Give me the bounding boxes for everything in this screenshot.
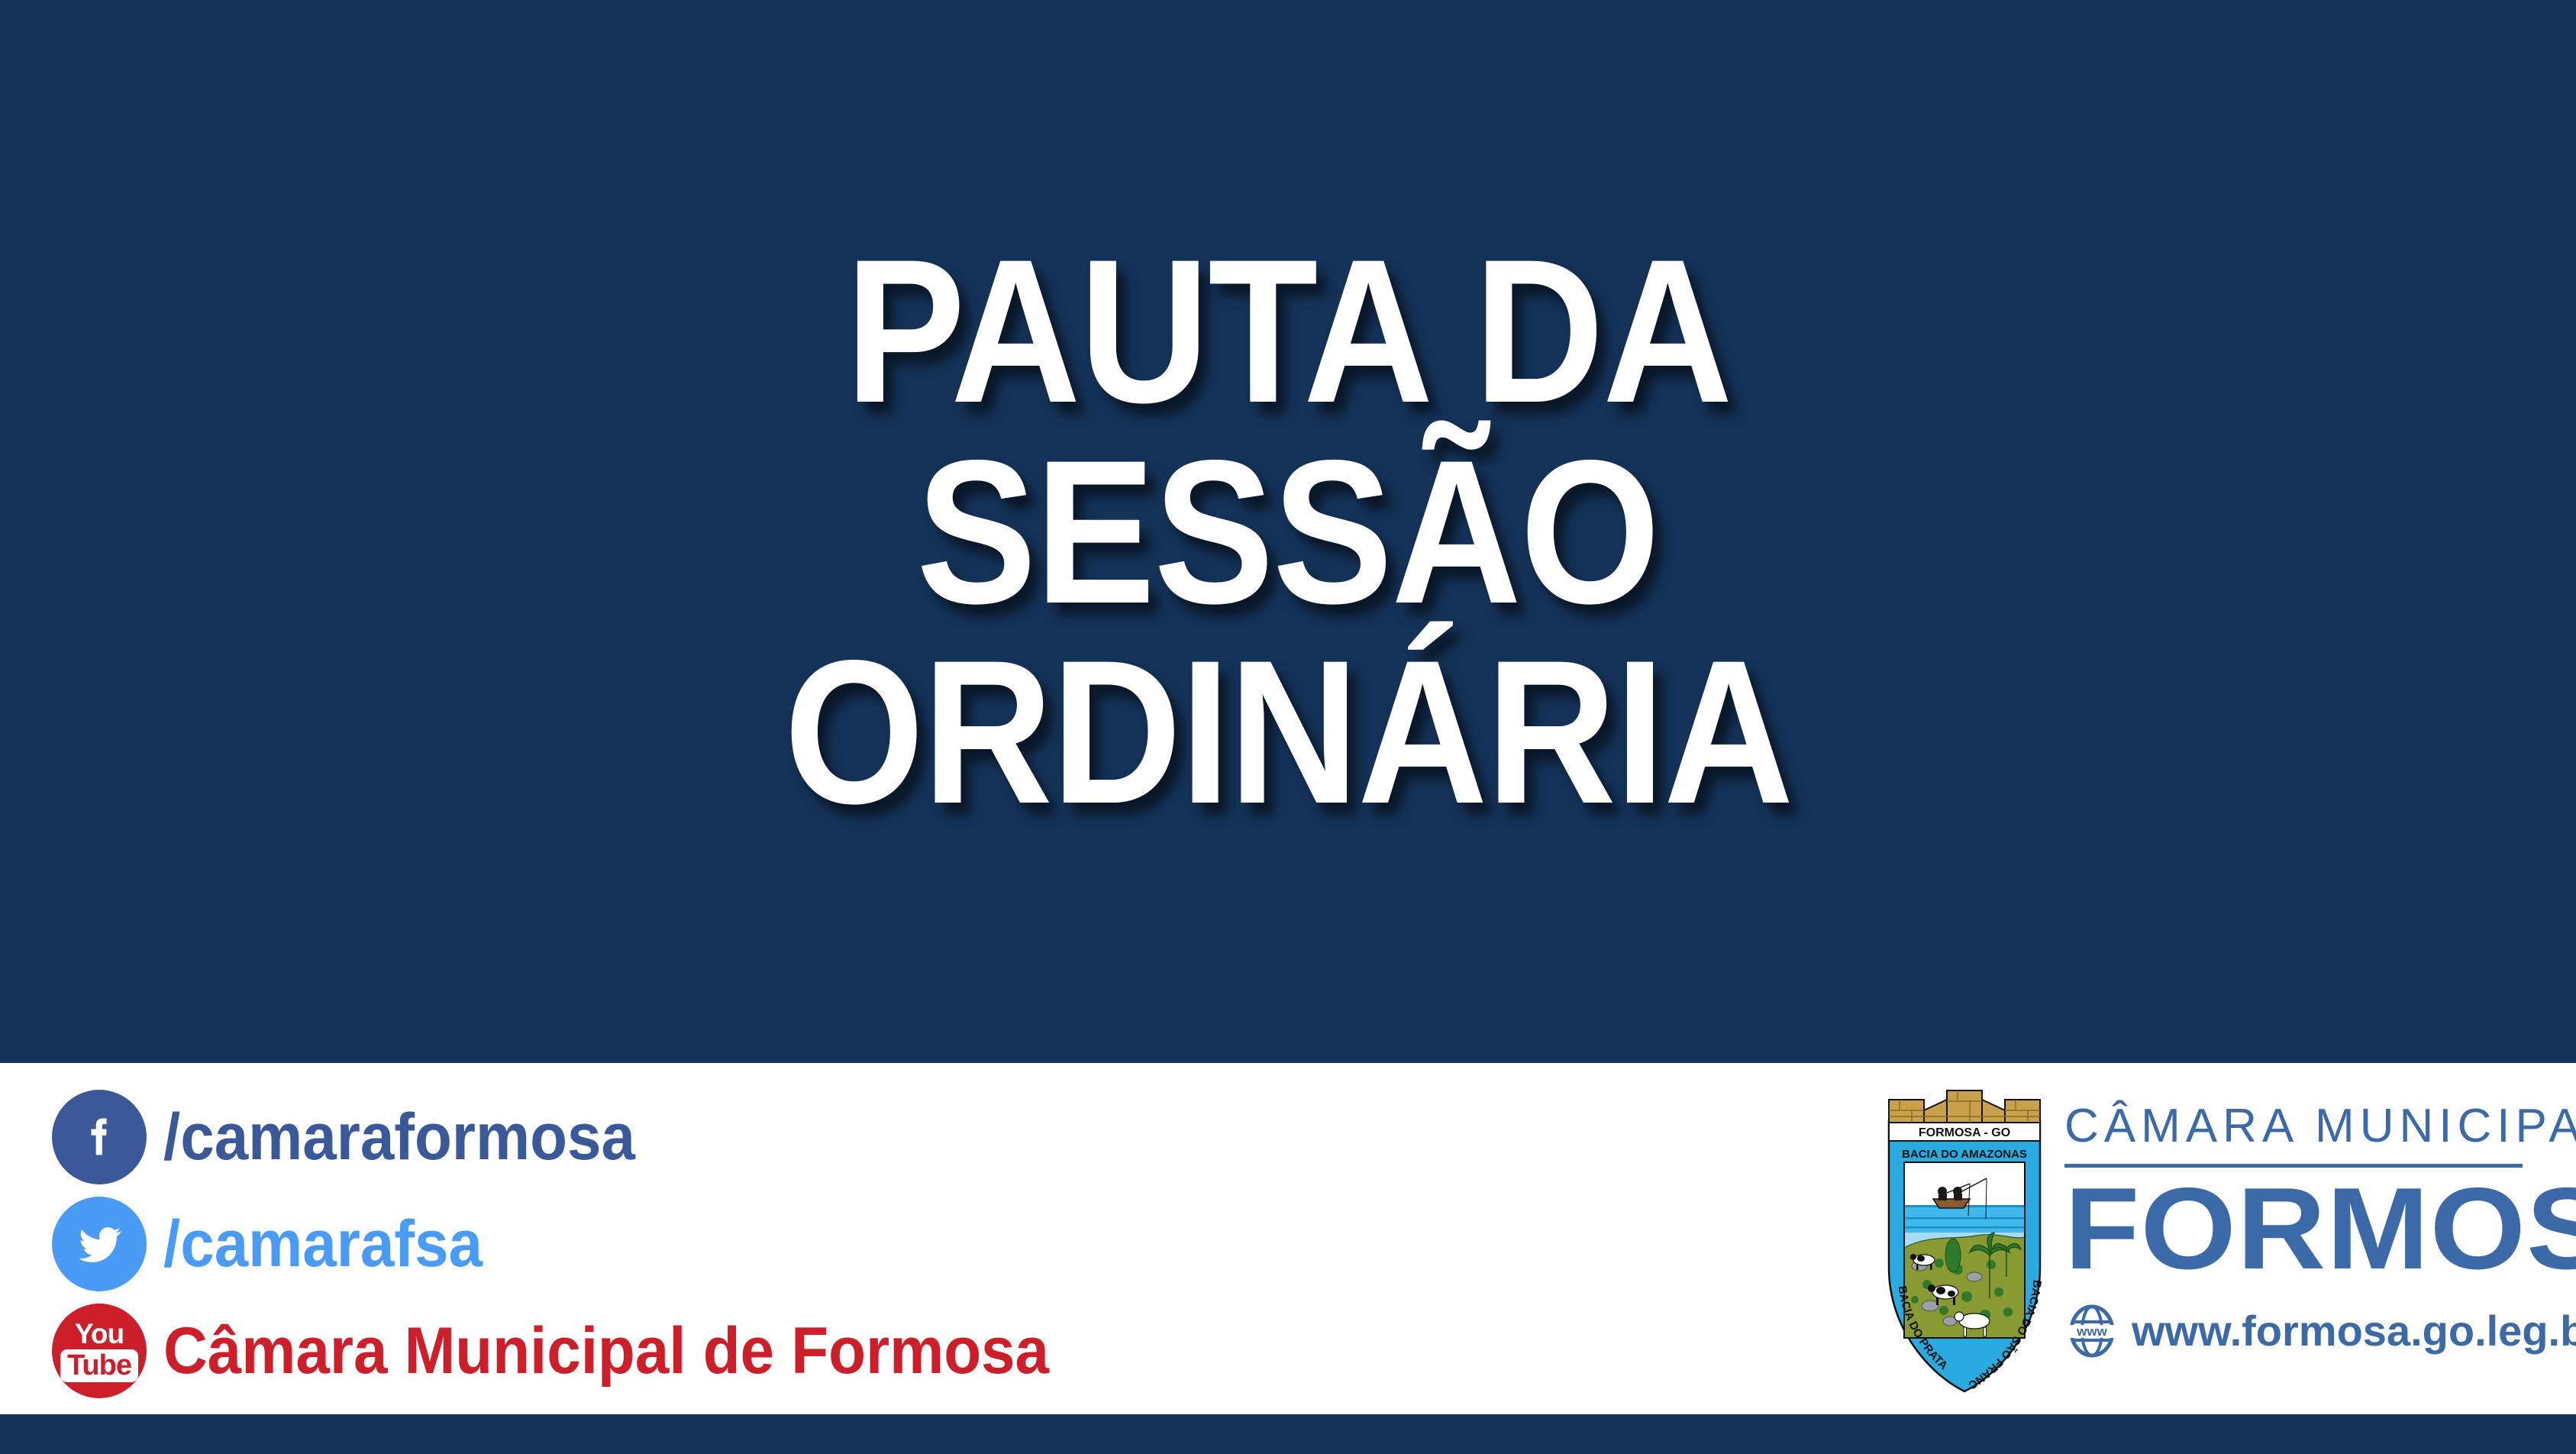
youtube-glyph-bottom: Tube — [60, 1349, 138, 1382]
hero-title-line-3: ORDINÁRIA — [784, 632, 1793, 832]
crest-banner-label: FORMOSA - GO — [1919, 1126, 2010, 1139]
youtube-icon[interactable]: You Tube — [52, 1304, 147, 1398]
poster-canvas: PAUTA DA SESSÃO ORDINÁRIA /camaraformosa — [0, 0, 2576, 1454]
www-globe-icon: www — [2064, 1304, 2119, 1359]
social-links-list: /camaraformosa /camarafsa You Tube Câ — [52, 1087, 1197, 1408]
social-row-facebook[interactable]: /camaraformosa — [52, 1087, 1197, 1187]
brand-wordmark: CÂMARA MUNICIPAL FORMOSA www www.formosa… — [2064, 1077, 2530, 1359]
social-row-youtube[interactable]: You Tube Câmara Municipal de Formosa — [52, 1301, 1197, 1401]
brand-title-formosa: FORMOSA — [2064, 1174, 2558, 1285]
youtube-glyph: You Tube — [66, 1320, 132, 1382]
facebook-handle[interactable]: /camaraformosa — [163, 1104, 635, 1170]
crest-upper-label: BACIA DO AMAZONAS — [1902, 1148, 2027, 1161]
website-url[interactable]: www.formosa.go.leg.br — [2132, 1306, 2576, 1355]
hero-section: PAUTA DA SESSÃO ORDINÁRIA — [0, 0, 2576, 1063]
brand-title-camara-municipal: CÂMARA MUNICIPAL — [2064, 1103, 2530, 1150]
bottom-strip — [0, 1414, 2576, 1454]
hero-title-line-1: PAUTA DA — [845, 231, 1732, 431]
social-row-twitter[interactable]: /camarafsa — [52, 1194, 1197, 1294]
coat-of-arms-icon: BACIA DO AMAZONAS FORMOSA - GO — [1884, 1077, 2045, 1397]
youtube-channel-name[interactable]: Câmara Municipal de Formosa — [163, 1318, 1049, 1384]
brand-block: BACIA DO AMAZONAS FORMOSA - GO — [1884, 1077, 2530, 1397]
twitter-icon[interactable] — [52, 1197, 147, 1291]
hero-title-line-2: SESSÃO — [917, 431, 1659, 632]
footer-band: /camaraformosa /camarafsa You Tube Câ — [0, 1063, 2576, 1414]
facebook-icon[interactable] — [52, 1090, 147, 1184]
twitter-handle[interactable]: /camarafsa — [163, 1211, 483, 1277]
youtube-glyph-top: You — [75, 1320, 124, 1348]
website-row[interactable]: www www.formosa.go.leg.br — [2064, 1304, 2530, 1359]
svg-text:www: www — [2076, 1324, 2107, 1339]
